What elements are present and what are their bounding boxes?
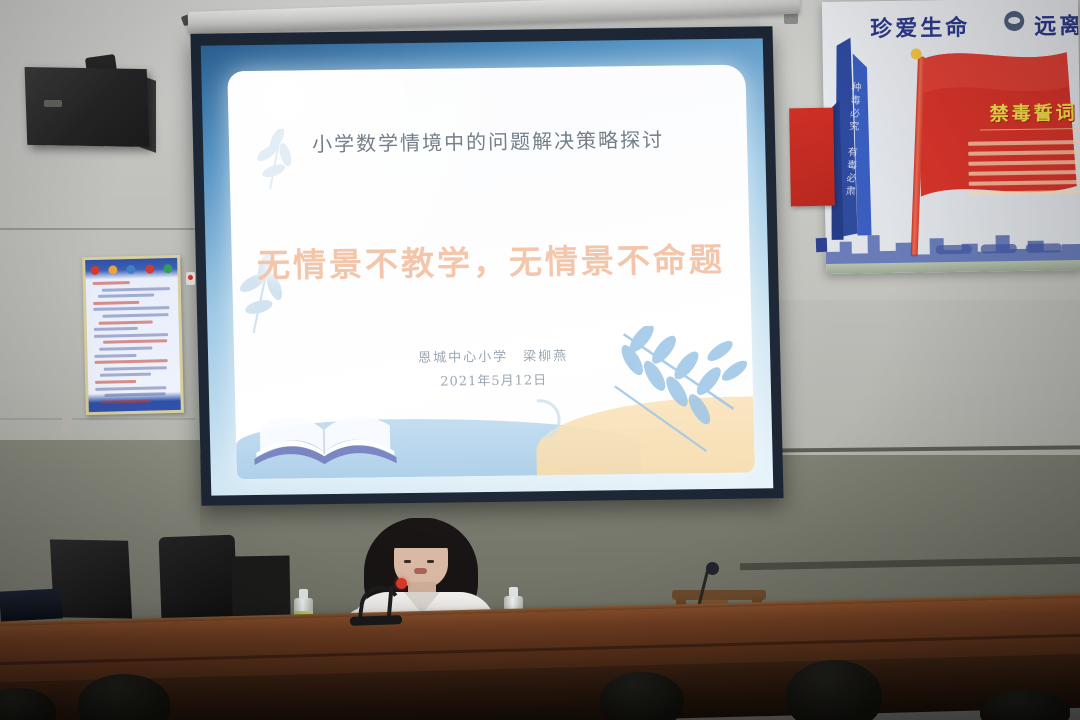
pledge-body-line [969, 190, 1080, 196]
bulletin-text-row [98, 320, 153, 324]
bulletin-text-row [99, 346, 152, 350]
office-chair-dark [231, 555, 290, 618]
pledge-body-line [968, 149, 1080, 155]
bulletin-text-row [95, 380, 136, 384]
bulletin-text-row [98, 294, 155, 298]
speaker-grill-badge [44, 100, 62, 107]
bulletin-text-row [94, 333, 169, 338]
bulletin-text-row [102, 287, 169, 292]
presenter-hair-front [389, 518, 453, 548]
city-skyline-icon [825, 218, 1080, 266]
mixer-indicator-lights [14, 604, 23, 610]
audio-mixer [0, 588, 63, 621]
pledge-body-line [969, 169, 1080, 175]
microphone-base [350, 615, 402, 626]
bulletin-header-dot [145, 264, 154, 273]
projection-screen: 小学数学情境中的问题解决策略探讨 无情景不教学，无情景不命题 恩城中心小学 梁柳… [190, 26, 783, 505]
microphone-indicator-icon [396, 578, 407, 589]
presenter-mouth [414, 568, 427, 574]
flag-graphic: 禁毒誓词 [870, 36, 1080, 229]
bulletin-text-row [94, 353, 137, 357]
monitor-center-left [159, 535, 238, 620]
bulletin-text-row [93, 306, 169, 311]
bulletin-text-row [93, 301, 139, 305]
bulletin-text-row [103, 313, 169, 318]
slide-main-heading: 无情景不教学，无情景不命题 [231, 233, 750, 288]
second-microphone-head-icon [706, 562, 719, 575]
wall-notice-small [816, 238, 827, 252]
bulletin-text-row [93, 327, 137, 331]
flame-tip-icon [911, 48, 922, 59]
monitor-left [50, 539, 132, 618]
wall-seam-line-lower [0, 418, 195, 420]
presenter-eye-left [404, 560, 411, 563]
fire-alarm-icon [186, 272, 195, 285]
fire-equipment-panel [789, 108, 835, 207]
bulletin-header-dot [164, 264, 173, 273]
bulletin-inner [85, 258, 181, 412]
bulletin-text-row [92, 281, 129, 285]
bulletin-text-row [105, 392, 166, 396]
pledge-body-line [968, 140, 1080, 146]
wall-seam-line [0, 228, 200, 230]
pledge-title: 禁毒誓词 [989, 98, 1077, 126]
wall-switch-plate [62, 418, 72, 434]
bulletin-text-row [95, 406, 134, 410]
bulletin-header-dot [127, 264, 136, 273]
anti-drug-poster: 珍爱生命 远离毒品 种毒必究 有毒必肃 禁毒誓词 [822, 0, 1080, 274]
presentation-slide: 小学数学情境中的问题解决策略探讨 无情景不教学，无情景不命题 恩城中心小学 梁柳… [227, 65, 755, 480]
bulletin-text-rows [91, 280, 176, 396]
bulletin-text-row [95, 386, 166, 391]
slide-subtitle-text: 小学数学情境中的问题解决策略探讨 [229, 123, 748, 159]
bulletin-text-row [104, 366, 166, 371]
pledge-body-line [969, 179, 1080, 185]
pledge-body-text [968, 139, 1080, 201]
bulletin-text-row [94, 359, 167, 364]
bulletin-header-dot [90, 265, 99, 274]
bulletin-text-row [99, 373, 151, 377]
bulletin-header-dot [108, 265, 117, 274]
bulletin-notice-board [82, 255, 184, 415]
bulletin-header-dots [85, 261, 177, 277]
bulletin-text-row [100, 399, 150, 403]
lecture-hall-photo: 小学数学情境中的问题解决策略探讨 无情景不教学，无情景不命题 恩城中心小学 梁柳… [0, 0, 1080, 720]
screen-surface: 小学数学情境中的问题解决策略探讨 无情景不教学，无情景不命题 恩城中心小学 梁柳… [201, 38, 774, 495]
audience-head [600, 672, 684, 720]
pledge-body-line [968, 159, 1080, 165]
wall-speaker-icon [25, 67, 150, 147]
open-book-icon [249, 407, 400, 471]
presenter-eye-right [427, 560, 434, 563]
bulletin-text-row [104, 340, 168, 345]
